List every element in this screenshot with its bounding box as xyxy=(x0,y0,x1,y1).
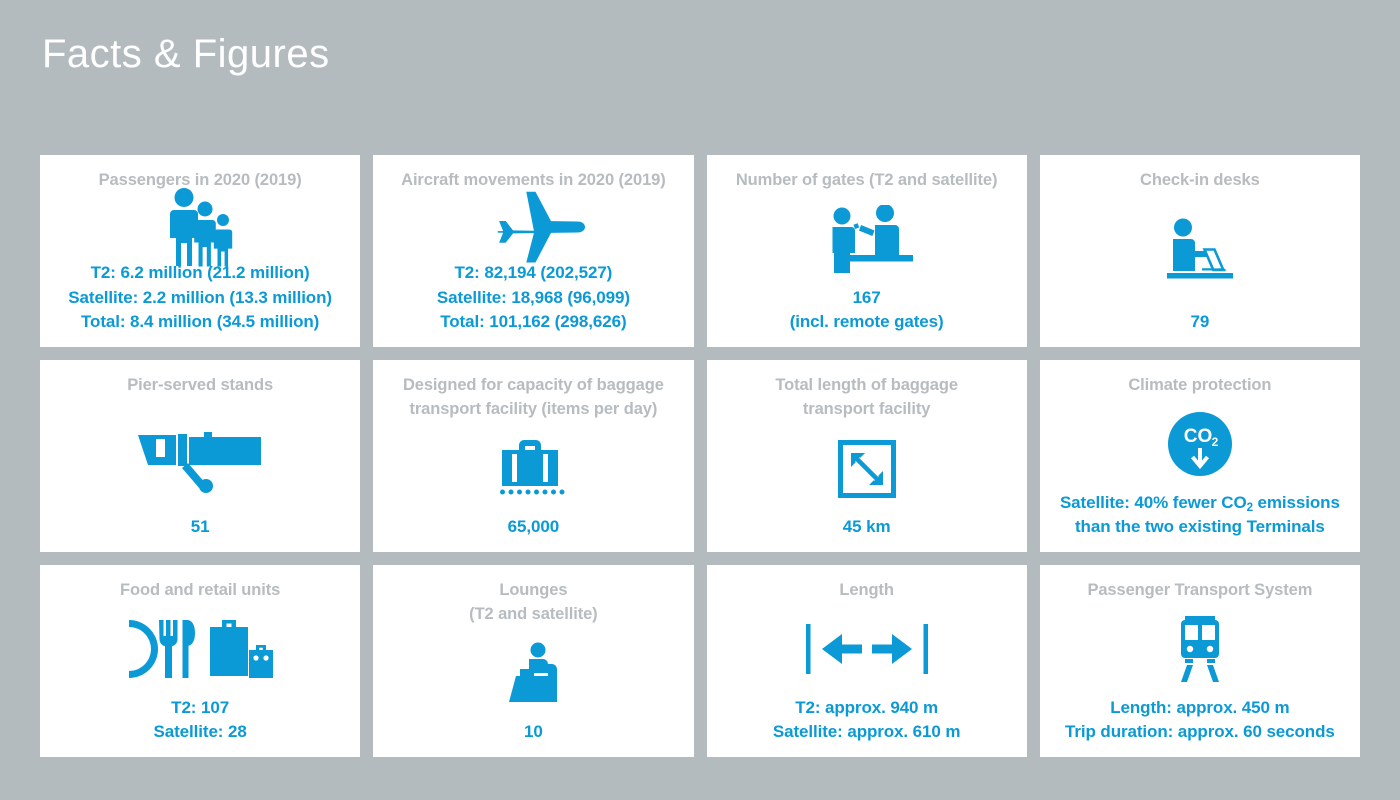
facts-and-figures-page: Facts & Figures Passengers in 2020 (2019… xyxy=(0,0,1400,800)
card-title: Check-in desks xyxy=(1140,169,1260,193)
width-measure-icon xyxy=(717,603,1017,696)
card-value: T2: 107 Satellite: 28 xyxy=(154,696,247,747)
card-baggage-total-length: Total length of baggage transport facili… xyxy=(707,360,1027,552)
card-title: Pier-served stands xyxy=(127,374,273,398)
card-climate-protection: Climate protection CO 2 Satellite: 40% f… xyxy=(1040,360,1360,552)
suitcase-conveyor-icon xyxy=(383,422,683,516)
page-title: Facts & Figures xyxy=(40,0,1360,74)
airplane-icon xyxy=(383,193,683,261)
card-value: 65,000 xyxy=(508,515,559,542)
card-title: Aircraft movements in 2020 (2019) xyxy=(401,169,666,193)
card-title: Climate protection xyxy=(1128,374,1271,398)
card-title: Designed for capacity of baggage transpo… xyxy=(403,374,664,422)
card-aircraft-movements: Aircraft movements in 2020 (2019) T2: 82… xyxy=(373,155,693,347)
train-icon xyxy=(1050,603,1350,696)
food-retail-icon xyxy=(50,603,350,696)
card-number-of-gates: Number of gates (T2 and satellite) 167 (… xyxy=(707,155,1027,347)
diagonal-measure-icon xyxy=(717,422,1017,516)
card-length: Length T2: approx. 940 m Satellite: appr… xyxy=(707,565,1027,757)
card-value: 51 xyxy=(191,515,210,542)
card-check-in-desks: Check-in desks 79 xyxy=(1040,155,1360,347)
card-value: 45 km xyxy=(843,515,891,542)
card-value: Satellite: 40% fewer CO2 emissionsthan t… xyxy=(1060,491,1340,542)
card-value: T2: approx. 940 m Satellite: approx. 610… xyxy=(773,696,961,747)
co2-icon-subscript: 2 xyxy=(1212,435,1219,449)
card-value: T2: 6.2 million (21.2 million) Satellite… xyxy=(68,261,332,337)
card-title: Food and retail units xyxy=(120,579,280,603)
co2-reduction-icon: CO 2 xyxy=(1050,398,1350,491)
card-passenger-transport-system: Passenger Transport System Length: appro… xyxy=(1040,565,1360,757)
card-title: Lounges (T2 and satellite) xyxy=(469,579,597,627)
card-title: Passenger Transport System xyxy=(1087,579,1312,603)
check-in-desk-icon xyxy=(1050,193,1350,310)
card-pier-served-stands: Pier-served stands 51 xyxy=(40,360,360,552)
card-food-and-retail: Food and retail units T2: 107 Satellite:… xyxy=(40,565,360,757)
card-value: Length: approx. 450 m Trip duration: app… xyxy=(1065,696,1335,747)
facts-grid: Passengers in 2020 (2019) T2: 6.2 millio… xyxy=(40,155,1360,757)
jet-bridge-icon xyxy=(50,398,350,515)
card-value: T2: 82,194 (202,527) Satellite: 18,968 (… xyxy=(437,261,630,337)
card-value: 167 (incl. remote gates) xyxy=(790,286,944,337)
card-passengers: Passengers in 2020 (2019) T2: 6.2 millio… xyxy=(40,155,360,347)
card-title: Length xyxy=(839,579,893,603)
card-lounges: Lounges (T2 and satellite) 10 xyxy=(373,565,693,757)
card-value: 10 xyxy=(524,720,543,747)
lounge-chair-icon xyxy=(383,627,683,721)
card-title: Number of gates (T2 and satellite) xyxy=(736,169,998,193)
card-baggage-capacity: Designed for capacity of baggage transpo… xyxy=(373,360,693,552)
family-passengers-icon xyxy=(50,193,350,261)
card-value: 79 xyxy=(1191,310,1210,337)
gate-counter-icon xyxy=(717,193,1017,286)
co2-icon-label: CO xyxy=(1184,426,1213,447)
card-title: Total length of baggage transport facili… xyxy=(775,374,958,422)
